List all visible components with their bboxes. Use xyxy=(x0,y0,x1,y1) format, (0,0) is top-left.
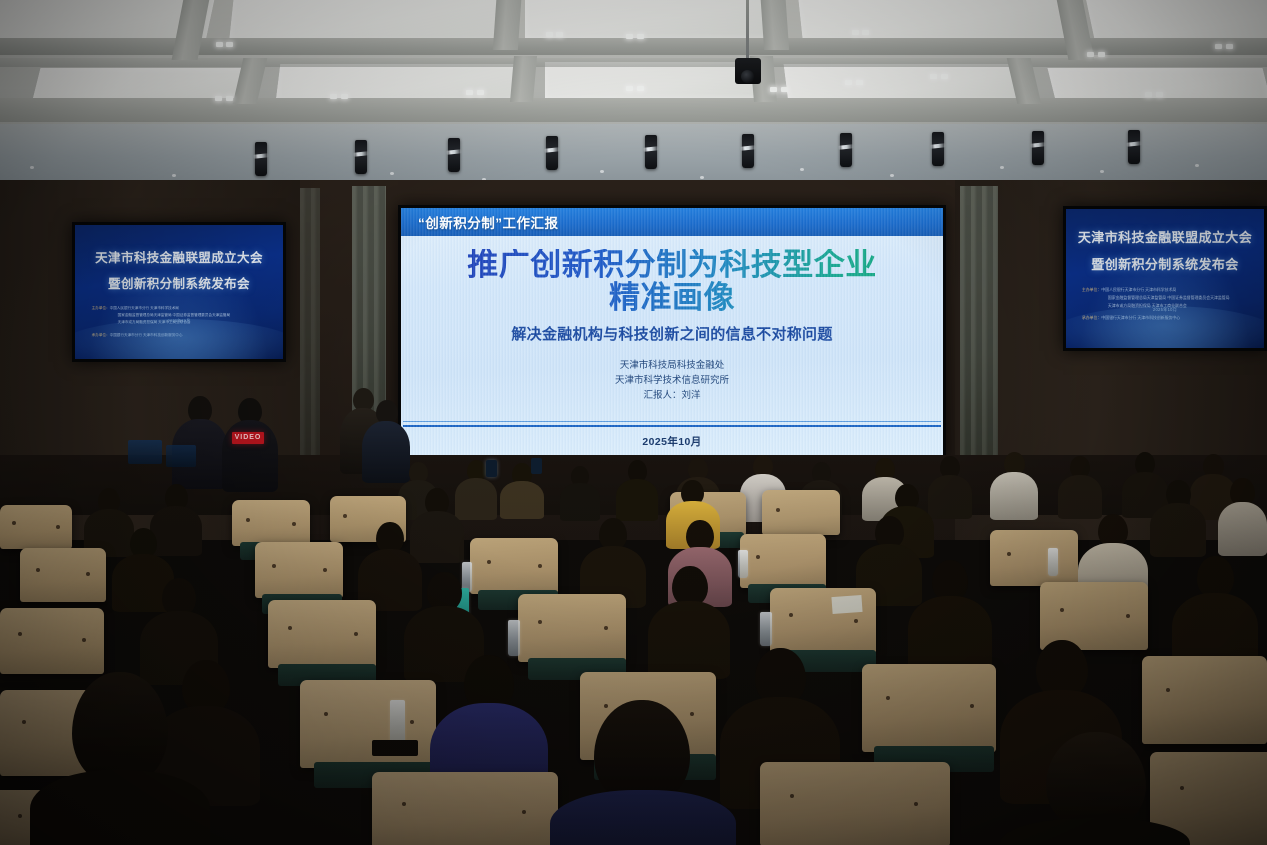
front-desk-monitor xyxy=(166,445,196,467)
side-left-coorg-label: 承办单位： xyxy=(92,333,110,337)
side-left-title-line1: 天津市科技金融联盟成立大会 xyxy=(95,247,263,266)
beam-light xyxy=(556,32,563,37)
ceiling xyxy=(0,0,1267,196)
slide-org-line2: 天津市科学技术信息研究所 xyxy=(615,374,729,389)
audience-member-foreground-blue xyxy=(550,700,736,845)
auditorium-seat-foreground[interactable] xyxy=(760,762,950,845)
beam-light xyxy=(941,74,948,79)
skylight-panel xyxy=(545,62,760,100)
downlight xyxy=(172,174,176,177)
beam-light xyxy=(1087,52,1094,57)
skylight-panel xyxy=(229,0,505,42)
downlight xyxy=(890,174,894,177)
slide-date: 2025年10月 xyxy=(401,434,943,449)
person-body xyxy=(30,770,210,845)
beam-light xyxy=(781,87,788,92)
auditorium-seat[interactable] xyxy=(20,548,106,602)
person-standing-suit xyxy=(172,396,228,486)
seat-hole xyxy=(538,564,542,568)
downlight xyxy=(800,168,804,171)
person-head xyxy=(594,700,690,804)
side-left-host-line1: 中国人民银行天津市分行 天津市科学技术局 xyxy=(110,306,179,310)
side-left-host-line3: 天津市或方局融资担保局 天津市工商业联合会 xyxy=(118,319,191,326)
beam-light xyxy=(637,86,644,91)
ceiling-beam xyxy=(510,56,537,102)
audience-member xyxy=(648,566,730,670)
spotlight-icon xyxy=(1032,131,1044,165)
auditorium-seat[interactable] xyxy=(268,600,376,668)
side-right-host-line3: 天津市或方局融资担保局 天津市工商业联合会 xyxy=(1108,302,1187,310)
printed-paper xyxy=(831,595,862,614)
auditorium-seat[interactable] xyxy=(762,490,840,535)
beam-light xyxy=(1156,92,1163,97)
audience-member xyxy=(580,518,646,602)
seat-hole xyxy=(789,613,793,617)
side-right-coorg-line1: 中国银行天津市分行 天津市科技创新服务中心 xyxy=(1101,315,1180,320)
camera-lens-icon xyxy=(741,70,754,83)
slide-eyebrow-text: “创新积分制”工作汇报 xyxy=(418,212,559,232)
person-videographer xyxy=(222,398,278,490)
downlight xyxy=(700,176,704,179)
water-bottle xyxy=(738,550,748,578)
seat-hole xyxy=(12,521,16,525)
seat-hole xyxy=(272,564,276,568)
person-head xyxy=(1197,556,1234,598)
seat-hole xyxy=(18,814,22,818)
seat-hole xyxy=(970,704,974,708)
seat-hole xyxy=(522,810,526,814)
smartphone-icon xyxy=(531,458,542,474)
main-slide: “创新积分制”工作汇报 推广创新积分制为科技型企业 精准画像 解决金融机构与科技… xyxy=(401,208,943,458)
auditorium-seat[interactable] xyxy=(0,608,104,674)
seat-hole xyxy=(343,514,347,518)
person-head xyxy=(672,566,708,606)
seat-hole xyxy=(410,720,414,724)
slide-divider xyxy=(403,421,941,428)
smartphone-icon xyxy=(486,460,497,477)
person-body xyxy=(1218,502,1267,556)
skylight-panel xyxy=(276,64,521,102)
ceiling-beam xyxy=(0,98,1267,122)
beam-light xyxy=(626,86,633,91)
beam-light xyxy=(226,42,233,47)
seat-hole xyxy=(604,626,608,630)
spotlight-icon xyxy=(255,142,267,176)
audience-member xyxy=(908,560,992,666)
seat-hole xyxy=(22,720,26,724)
seat-hole xyxy=(246,518,250,522)
side-right-date: 2025年10月 xyxy=(1066,307,1264,313)
spotlight-icon xyxy=(546,136,558,170)
person-body xyxy=(1058,475,1102,519)
beam-light xyxy=(1215,44,1222,49)
water-bottle xyxy=(1048,548,1058,576)
tablet-arm-desk xyxy=(372,740,418,756)
person-body xyxy=(648,601,730,679)
water-bottle xyxy=(390,700,405,744)
seat-hole xyxy=(323,568,327,572)
stage-curtain-right xyxy=(960,186,998,482)
beam-light xyxy=(477,90,484,95)
video-crew-tag: VIDEO xyxy=(232,432,264,444)
spotlight-icon xyxy=(742,134,754,168)
beam-light xyxy=(770,87,777,92)
spotlight-icon xyxy=(645,135,657,169)
auditorium-seat[interactable] xyxy=(0,505,72,549)
side-screen-left: 天津市科技金融联盟成立大会 暨创新积分制系统发布会 主办单位：中国人民银行天津市… xyxy=(72,222,286,362)
camera-mount-pole xyxy=(746,0,749,62)
auditorium-seat[interactable] xyxy=(232,500,310,546)
audience-member-foreground xyxy=(30,672,210,845)
slide-header-band: “创新积分制”工作汇报 xyxy=(401,208,943,236)
person-body xyxy=(560,483,600,521)
downlight xyxy=(600,170,604,173)
downlight xyxy=(30,166,34,169)
front-desk-monitor xyxy=(128,440,162,464)
beam-light xyxy=(1098,52,1105,57)
seat-hole xyxy=(1166,688,1170,692)
seat-hole xyxy=(854,619,858,623)
slide-divider-thick xyxy=(403,425,941,428)
ceiling-beam xyxy=(493,0,522,50)
seat-hole xyxy=(36,568,40,572)
seat-hole xyxy=(1007,552,1011,556)
seat-hole xyxy=(56,525,60,529)
seat-hole xyxy=(86,572,90,576)
auditorium-seat[interactable] xyxy=(862,664,996,752)
person-body xyxy=(550,790,736,845)
skylight-panel xyxy=(784,64,1029,102)
person-head xyxy=(1046,732,1146,830)
spotlight-icon xyxy=(448,138,460,172)
beam-light xyxy=(845,80,852,85)
audience-member xyxy=(560,466,600,516)
person-body xyxy=(1150,503,1206,557)
side-right-host-label: 主办单位： xyxy=(1082,287,1101,292)
water-bottle xyxy=(508,620,520,656)
beam-light xyxy=(341,94,348,99)
side-left-date: 2025年10月 xyxy=(75,319,283,324)
beam-light xyxy=(626,34,633,39)
person-head xyxy=(932,560,968,601)
side-screen-right: 天津市科技金融联盟成立大会 暨创新积分制系统发布会 主办单位：中国人民银行天津市… xyxy=(1063,206,1267,351)
audience-member xyxy=(1172,556,1258,664)
beam-light xyxy=(862,30,869,35)
slide-title-line1: 推广创新积分制为科技型企业 xyxy=(467,247,877,282)
spotlight-icon xyxy=(355,140,367,174)
person-body xyxy=(908,596,992,674)
seat-hole xyxy=(354,632,358,636)
slide-title: 推广创新积分制为科技型企业 精准画像 xyxy=(461,249,883,314)
side-right-title-line1: 天津市科技金融联盟成立大会 xyxy=(1078,227,1252,246)
downlight xyxy=(1100,170,1104,173)
spotlight-icon xyxy=(1128,130,1140,164)
side-right-organizers: 主办单位：中国人民银行天津市分行 天津市科学技术局 国家金融监督管理总局天津监管… xyxy=(1082,286,1248,322)
audience-member-light xyxy=(1218,478,1267,550)
slide-presenter: 汇报人：刘洋 xyxy=(615,389,729,404)
beam-light xyxy=(330,94,337,99)
beam-light xyxy=(215,96,222,101)
seat-hole xyxy=(756,555,760,559)
downlight xyxy=(390,172,394,175)
auditorium-seat[interactable] xyxy=(255,542,343,598)
seat-hole xyxy=(1060,608,1064,612)
slide-org-block: 天津市科技局科技金融处 天津市科学技术信息研究所 汇报人：刘洋 xyxy=(615,359,729,403)
audience-member xyxy=(1150,480,1206,550)
side-left-coorg-line1: 中国银行天津市分行 天津市科技创新服务中心 xyxy=(110,333,183,337)
person-body xyxy=(928,475,972,519)
seat-hole xyxy=(292,522,296,526)
seat-hole xyxy=(538,620,542,624)
slide-body: 推广创新积分制为科技型企业 精准画像 解决金融机构与科技创新之间的信息不对称问题… xyxy=(401,236,943,458)
beam-light xyxy=(856,80,863,85)
beam-light xyxy=(546,32,553,37)
slide-org-line1: 天津市科技局科技金融处 xyxy=(615,359,729,374)
person-body xyxy=(1000,818,1190,845)
side-screen-left-slide: 天津市科技金融联盟成立大会 暨创新积分制系统发布会 主办单位：中国人民银行天津市… xyxy=(75,225,283,359)
side-right-title-line2: 暨创新积分制系统发布会 xyxy=(1091,254,1238,273)
side-right-host-line2: 国家金融监督管理总局天津监管局 中国证券监督管理委员会天津监管局 xyxy=(1108,294,1230,302)
audience-member xyxy=(616,460,658,516)
beam-light xyxy=(852,30,859,35)
seat-hole xyxy=(288,626,292,630)
water-bottle xyxy=(760,612,772,646)
side-left-title-line2: 暨创新积分制系统发布会 xyxy=(108,273,250,292)
seat-hole xyxy=(18,632,22,636)
seat-hole xyxy=(1126,614,1130,618)
side-left-organizers: 主办单位：中国人民银行天津市分行 天津市科学技术局 国家金融监督管理总局天津监管… xyxy=(92,305,267,339)
seat-hole xyxy=(324,712,328,716)
seat-hole xyxy=(914,802,918,806)
person-body xyxy=(616,479,658,521)
auditorium-seat-foreground[interactable] xyxy=(372,772,558,845)
audience-member xyxy=(1058,456,1102,514)
downlight xyxy=(1195,164,1199,167)
spotlight-icon xyxy=(840,133,852,167)
slide-divider-thin xyxy=(403,421,941,423)
person-body xyxy=(990,472,1038,520)
main-projection-screen: “创新积分制”工作汇报 推广创新积分制为科技型企业 精准画像 解决金融机构与科技… xyxy=(398,205,946,461)
side-right-coorg-label: 承办单位： xyxy=(1082,315,1101,320)
side-left-host-label: 主办单位： xyxy=(92,306,110,310)
audience-member-light-top xyxy=(990,452,1038,514)
auditorium-seat[interactable] xyxy=(990,530,1078,586)
auditorium-seat[interactable] xyxy=(1142,656,1267,744)
spotlight-icon xyxy=(932,132,944,166)
beam-light xyxy=(1226,44,1233,49)
seat-hole xyxy=(886,696,890,700)
ceiling-beam xyxy=(760,0,789,50)
beam-light xyxy=(226,96,233,101)
audience-member-foreground xyxy=(1000,732,1190,845)
beam-light xyxy=(216,42,223,47)
slide-subtitle: 解决金融机构与科技创新之间的信息不对称问题 xyxy=(511,323,832,344)
audience-member xyxy=(928,456,972,514)
beam-light xyxy=(930,74,937,79)
downlight xyxy=(1000,166,1004,169)
conference-hall-photo: 天津市科技金融联盟成立大会 暨创新积分制系统发布会 主办单位：中国人民银行天津市… xyxy=(0,0,1267,845)
auditorium-seat[interactable] xyxy=(518,594,626,662)
seat-hole xyxy=(402,802,406,806)
slide-title-line2: 精准画像 xyxy=(467,282,877,315)
seat-hole xyxy=(82,638,86,642)
beam-light xyxy=(1145,92,1152,97)
auditorium-seat[interactable] xyxy=(740,534,826,588)
person-head xyxy=(72,672,168,784)
side-screen-right-slide: 天津市科技金融联盟成立大会 暨创新积分制系统发布会 主办单位：中国人民银行天津市… xyxy=(1066,209,1264,348)
side-right-host-line1: 中国人民银行天津市分行 天津市科学技术局 xyxy=(1101,287,1176,292)
skylight-panel xyxy=(797,0,1073,42)
seat-hole xyxy=(487,560,491,564)
beam-light xyxy=(637,34,644,39)
person-body xyxy=(500,481,544,519)
stage-curtain-far-left xyxy=(300,188,320,468)
beam-light xyxy=(466,90,473,95)
seat-hole xyxy=(790,794,794,798)
person-body xyxy=(222,420,278,492)
seat-hole xyxy=(776,508,780,512)
